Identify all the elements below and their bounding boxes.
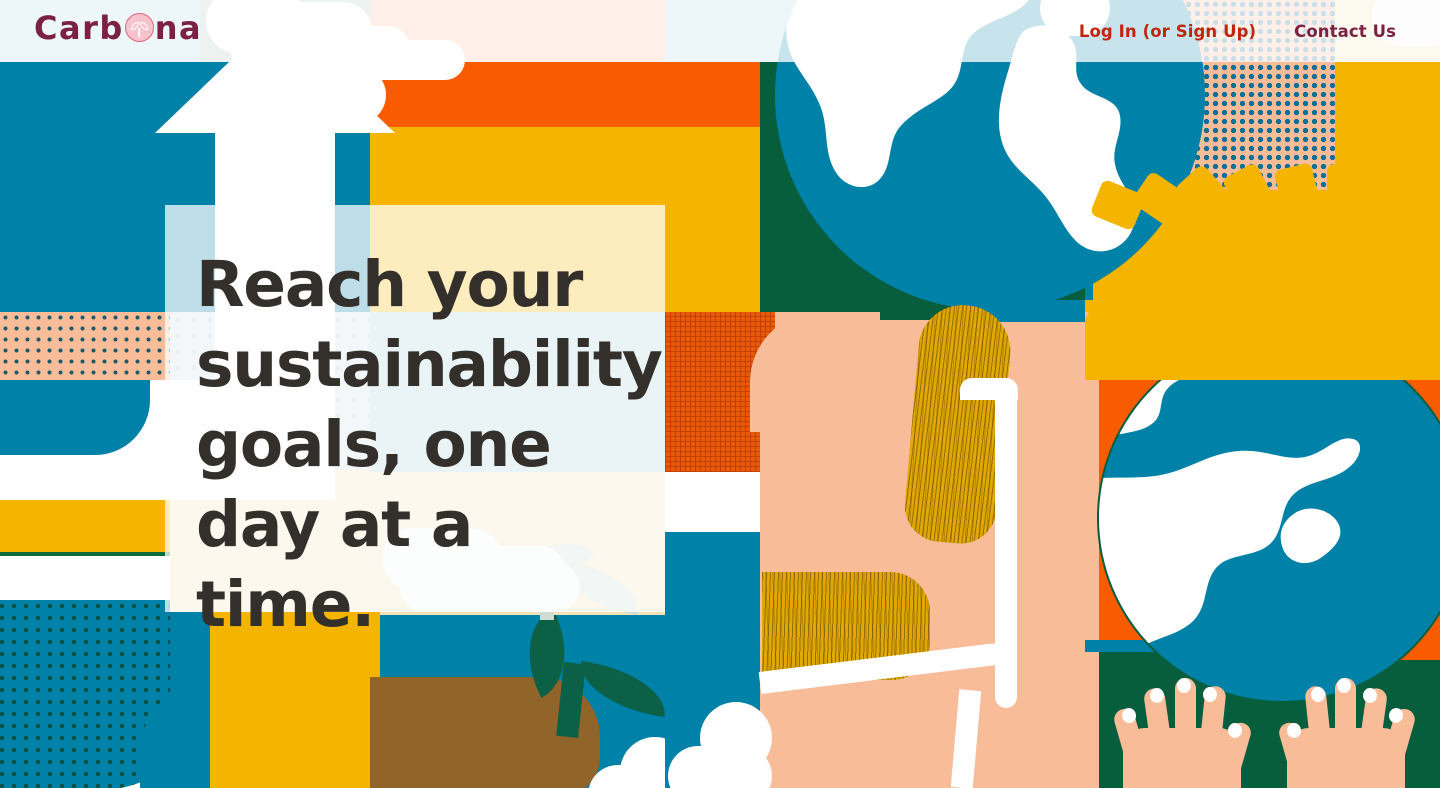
fingernail	[1150, 688, 1164, 703]
nav-login-link[interactable]: Log In (or Sign Up)	[1079, 22, 1256, 41]
site-header: Carb na Log In (or Sign Up) Contact Us	[0, 0, 1440, 62]
fingernail	[1337, 678, 1351, 693]
primary-navigation: Log In (or Sign Up) Contact Us	[1079, 0, 1396, 62]
fingernail	[1203, 687, 1217, 702]
stripe-peach-bottomright	[1085, 652, 1099, 788]
nav-contact-link[interactable]: Contact Us	[1294, 22, 1396, 41]
arrow-notch-teal	[0, 380, 150, 455]
cloud-icon	[222, 96, 308, 136]
cloud-icon	[588, 765, 665, 788]
chair-frame-top	[960, 378, 1018, 400]
globe-europe-africa-landmass	[1099, 335, 1440, 703]
fingernail	[1177, 678, 1191, 693]
page-root: Carb na Log In (or Sign Up) Contact Us R…	[0, 0, 1440, 788]
hero-headline: Reach your sustainability goals, one day…	[196, 245, 666, 645]
fingernail	[1228, 723, 1242, 738]
sprout-badge-icon	[125, 13, 154, 42]
fingernail	[1287, 723, 1301, 738]
sprout-stem-icon	[138, 28, 140, 37]
logo-text-part1: Carb	[34, 9, 124, 47]
sprout-leaf-right-icon	[140, 22, 148, 30]
tile-white-notch	[665, 472, 760, 532]
cloud-icon	[668, 746, 772, 788]
hand-right-finger-3	[1335, 678, 1356, 778]
sun-rays-icon	[1085, 140, 1440, 380]
fingernail	[1363, 688, 1377, 703]
fingernail	[1311, 687, 1325, 702]
logo[interactable]: Carb na	[34, 9, 202, 47]
two-hands-icon	[1099, 660, 1440, 788]
logo-text-part2: na	[155, 9, 202, 47]
hand-left-finger-3	[1175, 678, 1196, 778]
